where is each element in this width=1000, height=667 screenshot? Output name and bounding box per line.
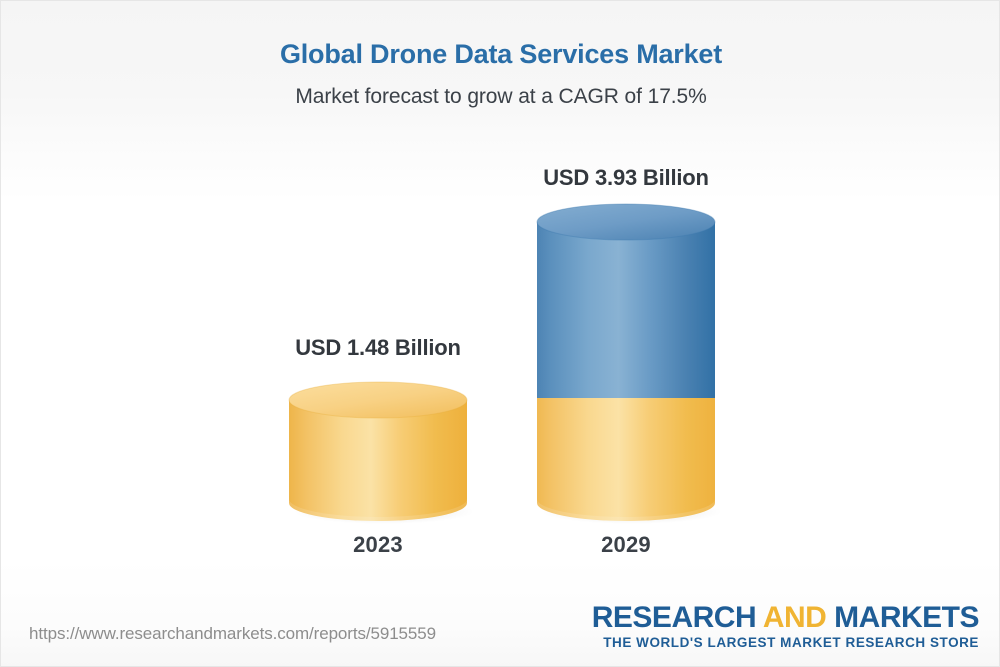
- source-url[interactable]: https://www.researchandmarkets.com/repor…: [29, 624, 436, 644]
- bar-cylinder-2029-shape: [532, 200, 720, 523]
- bar-cylinder-2023-shape: [284, 378, 472, 523]
- bar-value-label-2023: USD 1.48 Billion: [284, 335, 472, 361]
- bar-category-label-2029: 2029: [532, 532, 720, 558]
- bar-group-2023: USD 1.48 Billion: [284, 1, 472, 667]
- bar-category-label-2023: 2023: [284, 532, 472, 558]
- bar-value-label-2029: USD 3.93 Billion: [532, 165, 720, 191]
- infographic-canvas: Global Drone Data Services Market Market…: [0, 0, 1000, 667]
- brand-name-markets: MARKETS: [826, 601, 979, 634]
- brand-tagline: THE WORLD'S LARGEST MARKET RESEARCH STOR…: [592, 635, 979, 650]
- chart-plot-area: USD 1.48 Billion: [1, 1, 1000, 667]
- bar-group-2029: USD 3.93 Billion: [532, 1, 720, 667]
- brand-name-and: AND: [763, 601, 827, 634]
- brand-logo[interactable]: RESEARCH AND MARKETS THE WORLD'S LARGEST…: [592, 602, 979, 651]
- brand-name: RESEARCH AND MARKETS: [592, 602, 979, 634]
- bar-cylinder-2029[interactable]: [532, 200, 720, 523]
- bar-cylinder-2023[interactable]: [284, 378, 472, 523]
- brand-name-research: RESEARCH: [592, 601, 763, 634]
